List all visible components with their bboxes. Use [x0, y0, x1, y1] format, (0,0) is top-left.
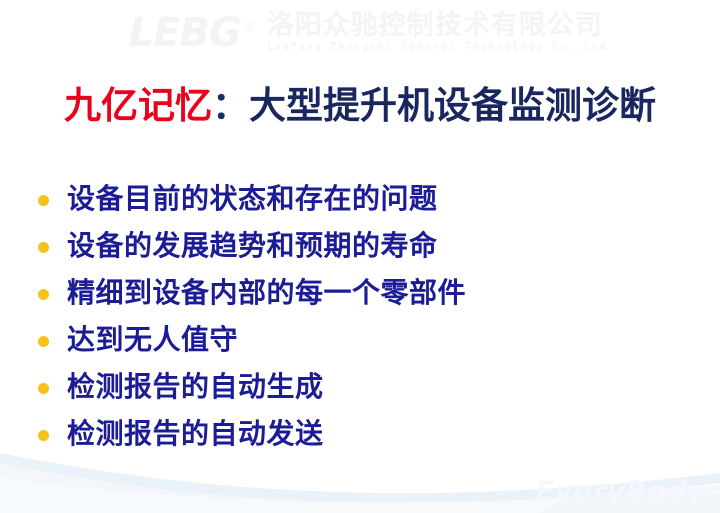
bullet-dot-icon — [38, 430, 49, 441]
footer-decor-text: EveryBody — [536, 476, 706, 507]
title-highlight: 九亿记忆 — [64, 83, 212, 127]
list-item-label: 达到无人值守 — [67, 325, 238, 356]
bullet-list: 设备目前的状态和存在的问题 设备的发展趋势和预期的寿命 精细到设备内部的每一个零… — [38, 176, 678, 458]
title-line: 九亿记忆：大型提升机设备监测诊断 — [64, 83, 656, 127]
bullet-dot-icon — [38, 336, 49, 347]
list-item-label: 检测报告的自动生成 — [67, 372, 324, 403]
logo-mark-lebg: LEBG® — [129, 13, 257, 53]
slide-canvas: LEBG® 洛阳众驰控制技术有限公司 LuoYang Zhongchi Cont… — [0, 0, 720, 513]
logo-mark-text: LEBG — [129, 10, 241, 56]
list-item: 达到无人值守 — [38, 317, 678, 364]
company-logo: LEBG® 洛阳众驰控制技术有限公司 LuoYang Zhongchi Cont… — [129, 12, 608, 54]
list-item-label: 检测报告的自动发送 — [67, 419, 324, 450]
wave-decoration-icon — [0, 451, 720, 513]
slide-title: 九亿记忆：大型提升机设备监测诊断 — [0, 84, 720, 127]
header-watermark: LEBG® 洛阳众驰控制技术有限公司 LuoYang Zhongchi Cont… — [0, 0, 720, 66]
registered-trademark-icon: ® — [243, 18, 257, 36]
title-rest: 大型提升机设备监测诊断 — [249, 83, 656, 127]
company-name-cn: 洛阳众驰控制技术有限公司 — [267, 12, 608, 40]
company-name-block: 洛阳众驰控制技术有限公司 LuoYang Zhongchi Control Te… — [267, 12, 608, 54]
list-item: 设备目前的状态和存在的问题 — [38, 176, 678, 223]
list-item: 检测报告的自动生成 — [38, 364, 678, 411]
list-item: 精细到设备内部的每一个零部件 — [38, 270, 678, 317]
bullet-dot-icon — [38, 289, 49, 300]
title-separator: ： — [212, 83, 249, 127]
list-item: 检测报告的自动发送 — [38, 411, 678, 458]
footer-decoration: EveryBody — [0, 451, 720, 513]
list-item: 设备的发展趋势和预期的寿命 — [38, 223, 678, 270]
list-item-label: 设备的发展趋势和预期的寿命 — [67, 231, 438, 262]
list-item-label: 精细到设备内部的每一个零部件 — [67, 278, 466, 309]
bullet-dot-icon — [38, 242, 49, 253]
list-item-label: 设备目前的状态和存在的问题 — [67, 184, 438, 215]
bullet-dot-icon — [38, 195, 49, 206]
bullet-dot-icon — [38, 383, 49, 394]
company-name-en: LuoYang Zhongchi Control Technology Co.,… — [267, 41, 608, 54]
